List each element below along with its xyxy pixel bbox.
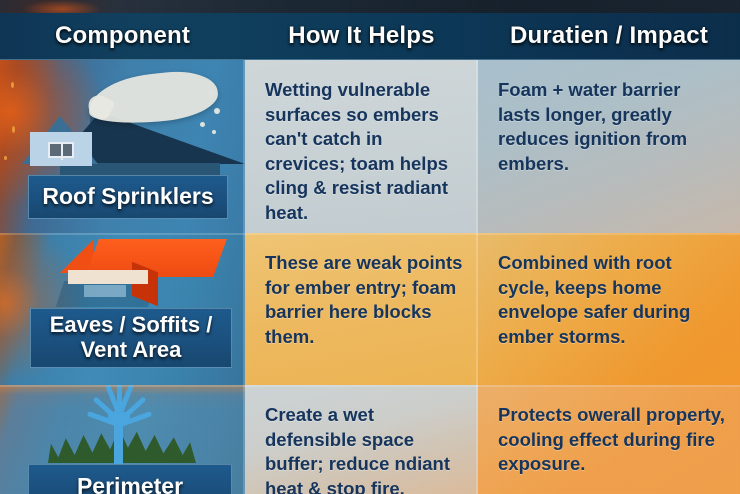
how-it-helps-cell-row3: Create a wet defensible space buffer; re… [245,385,478,494]
duration-impact-text: Foam + water barrier lasts longer, great… [498,78,726,176]
header-label-component: Component [55,22,190,50]
table-header-row: Component How It Helps Duratien / Impact [0,13,740,60]
duration-impact-text: Protects owerall property, cooling effec… [498,403,726,477]
component-cell-eaves-soffits: Eaves / Soffits / Vent Area [0,233,245,385]
component-cell-perimeter: Perimeter [0,385,245,494]
duration-impact-cell-row1: Foam + water barrier lasts longer, great… [478,60,740,233]
component-label-badge: Perimeter [28,464,232,494]
water-droplet-icon [208,90,215,97]
duration-impact-cell-row2: Combined with root cycle, keeps home env… [478,233,740,385]
how-it-helps-text: These are weak points for ember entry; f… [265,251,464,349]
sprinkler-stem-icon [114,411,123,467]
component-cell-roof-sprinklers: Roof Sprinklers [0,60,245,233]
table-body: Roof Sprinklers Wetting vulnerable surfa… [0,60,740,494]
component-label-text: Roof Sprinklers [42,184,213,210]
component-label-badge: Eaves / Soffits / Vent Area [30,308,232,368]
table-row: Eaves / Soffits / Vent Area These are we… [0,233,740,385]
how-it-helps-cell-row1: Wetting vulnerable surfaces so embers ca… [245,60,478,233]
header-cell-how-it-helps: How It Helps [245,13,478,59]
header-label-duration-impact: Duratien / Impact [510,22,708,50]
component-label-badge: Roof Sprinklers [28,175,228,219]
top-edge-strip [0,0,740,13]
component-label-text: Perimeter [77,474,183,494]
component-label-text: Eaves / Soffits / Vent Area [31,313,231,362]
ember-particle-icon [11,82,14,88]
wildfire-protection-comparison-table: Component How It Helps Duratien / Impact [0,0,740,494]
water-droplet-icon [200,122,205,127]
house-window-icon [48,142,74,158]
duration-impact-text: Combined with root cycle, keeps home env… [498,251,726,349]
ember-particle-icon [4,156,7,160]
ember-particle-icon [12,126,15,133]
duration-impact-cell-row3: Protects owerall property, cooling effec… [478,385,740,494]
how-it-helps-text: Wetting vulnerable surfaces so embers ca… [265,78,464,226]
header-cell-duration-impact: Duratien / Impact [478,13,740,59]
how-it-helps-cell-row2: These are weak points for ember entry; f… [245,233,478,385]
table-row: Perimeter Create a wet defensible space … [0,385,740,494]
vent-opening-icon [84,285,126,297]
table-row: Roof Sprinklers Wetting vulnerable surfa… [0,60,740,233]
water-droplet-icon [212,130,216,134]
water-droplet-icon [214,108,220,114]
header-label-how-it-helps: How It Helps [288,22,434,50]
ember-glow-accent [22,0,102,13]
how-it-helps-text: Create a wet defensible space buffer; re… [265,403,464,494]
soffit-board-icon [68,270,148,284]
header-cell-component: Component [0,13,245,59]
